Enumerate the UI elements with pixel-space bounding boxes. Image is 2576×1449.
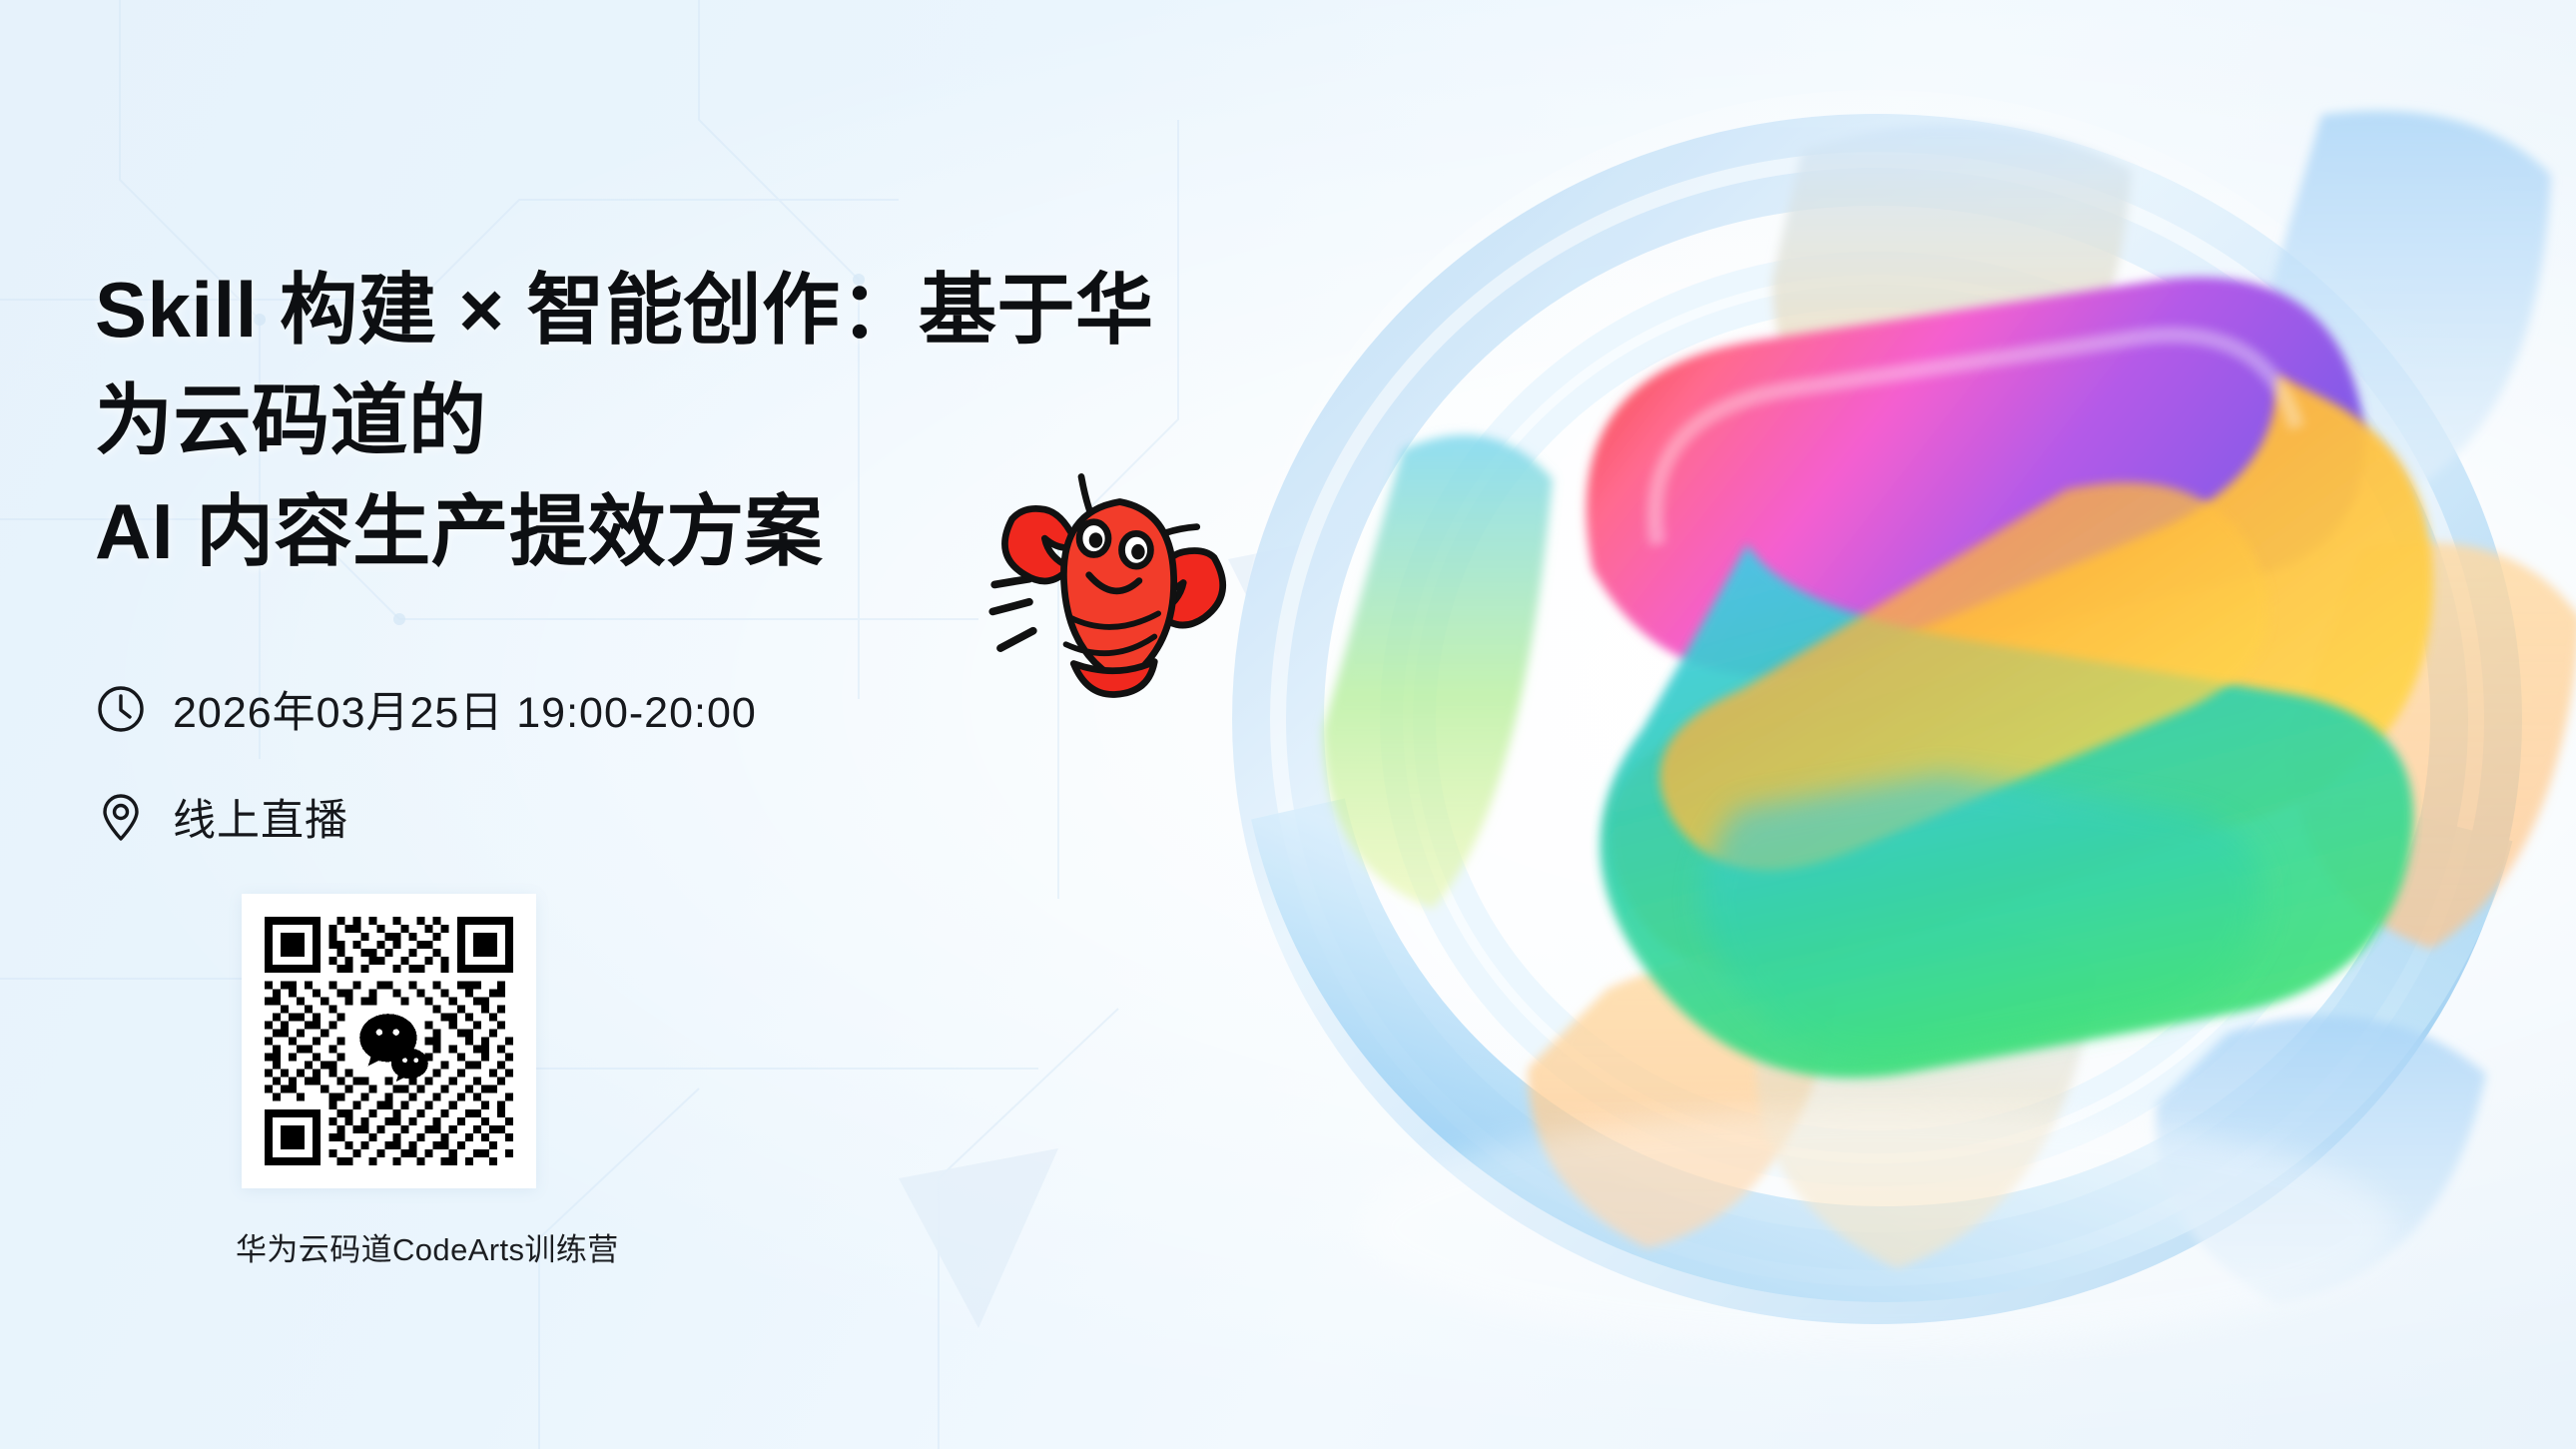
event-location-text: 线上直播 xyxy=(173,786,348,848)
event-meta: 2026年03月25日 19:00-20:00 线上直播 xyxy=(95,678,1213,848)
qr-caption: 华为云码道CodeArts训练营 xyxy=(236,1224,530,1269)
location-pin-icon xyxy=(95,791,147,843)
hero-artwork xyxy=(1138,0,2576,1449)
page-title: Skill 构建 × 智能创作：基于华为云码道的 AI 内容生产提效方案 xyxy=(95,255,1213,586)
clock-icon xyxy=(95,683,147,735)
event-datetime-row: 2026年03月25日 19:00-20:00 xyxy=(95,678,1213,740)
content-column: Skill 构建 × 智能创作：基于华为云码道的 AI 内容生产提效方案 202… xyxy=(95,255,1213,1269)
qr-code[interactable] xyxy=(242,894,536,1188)
poster-canvas: Skill 构建 × 智能创作：基于华为云码道的 AI 内容生产提效方案 202… xyxy=(0,0,2576,1449)
event-location-row: 线上直播 xyxy=(95,786,1213,848)
qr-section: 华为云码道CodeArts训练营 xyxy=(242,894,1213,1269)
wechat-chat-icon xyxy=(352,1006,427,1083)
event-datetime-text: 2026年03月25日 19:00-20:00 xyxy=(173,678,757,740)
